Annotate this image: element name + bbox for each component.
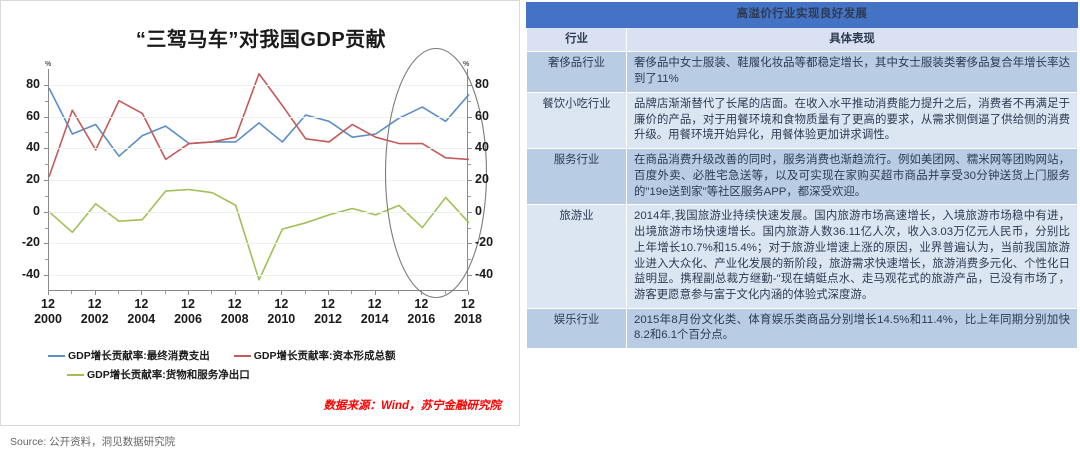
x-axis-tick-label: 122010 — [259, 297, 303, 327]
x-axis-year: 2002 — [73, 312, 117, 327]
axis-tick — [468, 85, 472, 86]
x-axis-year: 2010 — [259, 312, 303, 327]
axis-tick — [44, 85, 48, 86]
axis-tick — [44, 148, 48, 149]
y-axis-tick-label-right: 60 — [475, 109, 509, 123]
axis-tick — [45, 101, 48, 102]
table-title-row: 高溢价行业实现良好发展 — [527, 3, 1078, 28]
table-row: 旅游业2014年,我国旅游业持续快速发展。国内旅游市场高速增长，入境旅游市场稳中… — [527, 205, 1078, 308]
chart-title: “三驾马车”对我国GDP贡献 — [1, 23, 521, 52]
x-axis-tick — [281, 291, 282, 295]
table-title: 高溢价行业实现良好发展 — [527, 3, 1078, 28]
y-axis-tick-label: -40 — [6, 267, 40, 281]
table-row: 娱乐行业2015年8月份文化类、体育娱乐类商品分别增长14.5%和11.4%，比… — [527, 308, 1078, 348]
legend-item-capital[interactable]: GDP增长贡献率:资本形成总额 — [234, 348, 396, 363]
legend-swatch-consumption — [48, 355, 65, 357]
chart-plot-area — [48, 69, 468, 291]
axis-tick — [468, 259, 471, 260]
axis-tick — [44, 275, 48, 276]
y-axis-tick-label: 0 — [6, 204, 40, 218]
axis-tick — [45, 196, 48, 197]
x-axis-tick-minor — [445, 291, 446, 294]
page-root: “三驾马车”对我国GDP贡献 % % 806040200-20-40 80604… — [0, 0, 1080, 455]
axis-tick — [468, 243, 472, 244]
x-axis-tick — [95, 291, 96, 295]
x-axis-tick-label: 122004 — [119, 297, 163, 327]
x-axis-tick — [375, 291, 376, 295]
y-axis-tick-label: 40 — [6, 140, 40, 154]
x-axis-year: 2000 — [26, 312, 70, 327]
x-axis-month: 12 — [166, 297, 210, 312]
table-cell-industry: 服务行业 — [527, 149, 627, 205]
chart-gridline — [49, 212, 467, 213]
table-row: 奢侈品行业奢侈品中女士服装、鞋履化妆品等都稳定增长，其中女士服装类奢侈品复合年增… — [527, 52, 1078, 92]
x-axis-tick-minor — [165, 291, 166, 294]
x-axis-tick-minor — [351, 291, 352, 294]
legend-label-consumption: GDP增长贡献率:最终消费支出 — [68, 348, 210, 363]
chart-line-series-0 — [49, 88, 469, 156]
axis-tick — [468, 228, 471, 229]
footer-source-label: Source: — [10, 436, 46, 448]
table-body: 奢侈品行业奢侈品中女士服装、鞋履化妆品等都稳定增长，其中女士服装类奢侈品复合年增… — [527, 52, 1078, 349]
x-axis-year: 2016 — [399, 312, 443, 327]
x-axis-year: 2006 — [166, 312, 210, 327]
axis-tick — [468, 148, 472, 149]
legend-label-capital: GDP增长贡献率:资本形成总额 — [254, 348, 396, 363]
axis-tick — [44, 212, 48, 213]
table-cell-detail: 在商品消费升级改善的同时，服务消费也渐趋流行。例如美团网、糯米网等团购网站，百度… — [627, 149, 1078, 205]
chart-line-series-1 — [49, 74, 469, 177]
table-cell-industry: 奢侈品行业 — [527, 52, 627, 92]
x-axis-tick-label: 122012 — [306, 297, 350, 327]
chart-gridline — [49, 85, 467, 86]
x-axis-month: 12 — [353, 297, 397, 312]
x-axis-month: 12 — [259, 297, 303, 312]
x-axis-tick-label: 122008 — [213, 297, 257, 327]
table-cell-detail: 2014年,我国旅游业持续快速发展。国内旅游市场高速增长，入境旅游市场稳中有进，… — [627, 205, 1078, 308]
x-axis-tick-label: 122018 — [446, 297, 490, 327]
chart-gridline — [49, 180, 467, 181]
x-axis-tick-label: 122006 — [166, 297, 210, 327]
x-axis-tick — [468, 291, 469, 295]
axis-tick — [45, 228, 48, 229]
chart-gridline — [49, 275, 467, 276]
footer-source-text: 公开资料，洞见数据研究院 — [49, 436, 175, 448]
chart-source-note: 数据来源：Wind，苏宁金融研究院 — [324, 397, 502, 413]
chart-line-series-2 — [49, 190, 469, 280]
axis-tick — [468, 101, 471, 102]
x-axis-tick-minor — [211, 291, 212, 294]
x-axis-tick-label: 122014 — [353, 297, 397, 327]
x-axis-year: 2018 — [446, 312, 490, 327]
x-axis-tick-label: 122002 — [73, 297, 117, 327]
legend-swatch-netexports — [67, 374, 84, 376]
x-axis-tick-minor — [305, 291, 306, 294]
x-axis-tick-label: 122016 — [399, 297, 443, 327]
axis-tick — [468, 132, 471, 133]
table-cell-detail: 2015年8月份文化类、体育娱乐类商品分别增长14.5%和11.4%，比上年同期… — [627, 308, 1078, 348]
axis-tick — [468, 164, 471, 165]
x-axis-tick-minor — [118, 291, 119, 294]
legend-item-netexports[interactable]: GDP增长贡献率:货物和服务净出口 — [67, 367, 250, 382]
y-axis-tick-label-right: -40 — [475, 267, 509, 281]
table-cell-industry: 餐饮小吃行业 — [527, 92, 627, 148]
axis-tick — [45, 164, 48, 165]
x-axis-month: 12 — [213, 297, 257, 312]
chart-gridline — [49, 243, 467, 244]
y-axis-tick-label-right: 80 — [475, 77, 509, 91]
x-axis-year: 2012 — [306, 312, 350, 327]
x-axis-tick — [235, 291, 236, 295]
table-cell-detail: 品牌店渐渐替代了长尾的店面。在收入水平推动消费能力提升之后，消费者不再满足于廉价… — [627, 92, 1078, 148]
x-axis-tick-label: 122000 — [26, 297, 70, 327]
x-axis-tick — [48, 291, 49, 295]
y-axis-tick-label: 20 — [6, 172, 40, 186]
y-axis-tick-label-right: 20 — [475, 172, 509, 186]
x-axis-month: 12 — [26, 297, 70, 312]
y-axis-tick-label: 60 — [6, 109, 40, 123]
axis-tick — [44, 243, 48, 244]
table-panel: 高溢价行业实现良好发展 行业 具体表现 奢侈品行业奢侈品中女士服装、鞋履化妆品等… — [526, 2, 1078, 450]
x-axis-tick — [141, 291, 142, 295]
axis-tick — [468, 180, 472, 181]
y-axis-tick-label: 80 — [6, 77, 40, 91]
chart-gridline — [49, 117, 467, 118]
axis-tick — [468, 212, 472, 213]
footer-source: Source: 公开资料，洞见数据研究院 — [10, 434, 175, 449]
chart-gridline — [49, 148, 467, 149]
column-header-detail: 具体表现 — [627, 27, 1078, 52]
y-axis-tick-label-right: 0 — [475, 204, 509, 218]
x-axis-month: 12 — [73, 297, 117, 312]
axis-tick — [45, 132, 48, 133]
x-axis-tick — [188, 291, 189, 295]
x-axis-tick-minor — [258, 291, 259, 294]
table-cell-industry: 旅游业 — [527, 205, 627, 308]
chart-legend: GDP增长贡献率:最终消费支出 GDP增长贡献率:资本形成总额 GDP增长贡献率… — [48, 348, 488, 386]
axis-tick — [45, 259, 48, 260]
x-axis-month: 12 — [119, 297, 163, 312]
x-axis-year: 2014 — [353, 312, 397, 327]
y-axis-unit-right: % — [463, 61, 469, 68]
table-cell-industry: 娱乐行业 — [527, 308, 627, 348]
x-axis-tick — [328, 291, 329, 295]
x-axis-tick — [421, 291, 422, 295]
industry-table: 高溢价行业实现良好发展 行业 具体表现 奢侈品行业奢侈品中女士服装、鞋履化妆品等… — [526, 2, 1078, 349]
y-axis-tick-label: -20 — [6, 235, 40, 249]
x-axis-tick-minor — [398, 291, 399, 294]
table-header-row: 行业 具体表现 — [527, 27, 1078, 52]
axis-tick — [44, 117, 48, 118]
legend-label-netexports: GDP增长贡献率:货物和服务净出口 — [87, 367, 250, 382]
axis-tick — [44, 180, 48, 181]
y-axis-tick-label-right: -20 — [475, 235, 509, 249]
x-axis-year: 2008 — [213, 312, 257, 327]
x-axis-month: 12 — [306, 297, 350, 312]
table-cell-detail: 奢侈品中女士服装、鞋履化妆品等都稳定增长，其中女士服装类奢侈品复合年增长率达到了… — [627, 52, 1078, 92]
table-row: 服务行业在商品消费升级改善的同时，服务消费也渐趋流行。例如美团网、糯米网等团购网… — [527, 149, 1078, 205]
y-axis-unit-left: % — [45, 61, 51, 68]
x-axis-month: 12 — [399, 297, 443, 312]
legend-item-consumption[interactable]: GDP增长贡献率:最终消费支出 — [48, 348, 210, 363]
legend-swatch-capital — [234, 355, 251, 357]
chart-panel: “三驾马车”对我国GDP贡献 % % 806040200-20-40 80604… — [0, 0, 520, 426]
table-row: 餐饮小吃行业品牌店渐渐替代了长尾的店面。在收入水平推动消费能力提升之后，消费者不… — [527, 92, 1078, 148]
x-axis-year: 2004 — [119, 312, 163, 327]
x-axis-tick-minor — [71, 291, 72, 294]
x-axis-month: 12 — [446, 297, 490, 312]
axis-tick — [468, 117, 472, 118]
y-axis-tick-label-right: 40 — [475, 140, 509, 154]
axis-tick — [468, 275, 472, 276]
axis-tick — [468, 196, 471, 197]
column-header-industry: 行业 — [527, 27, 627, 52]
